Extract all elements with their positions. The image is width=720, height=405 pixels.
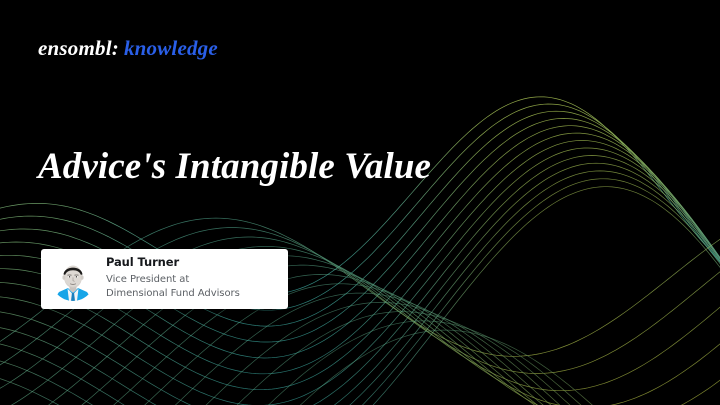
speaker-card: Paul Turner Vice President at Dimensiona… [41, 249, 288, 309]
brand-logo: ensombl:knowledge [38, 36, 218, 61]
page-title: Advice's Intangible Value [38, 145, 431, 188]
speaker-role-line-2: Dimensional Fund Advisors [106, 287, 240, 301]
presentation-slide: ensombl:knowledge Advice's Intangible Va… [0, 0, 720, 405]
speaker-details: Paul Turner Vice President at Dimensiona… [106, 257, 240, 301]
avatar [51, 257, 95, 301]
avatar-portrait-icon [51, 257, 95, 301]
speaker-role-line-1: Vice President at [106, 273, 240, 287]
brand-name: ensombl: [38, 36, 119, 60]
brand-accent-word: knowledge [124, 36, 218, 60]
speaker-name: Paul Turner [106, 257, 240, 269]
